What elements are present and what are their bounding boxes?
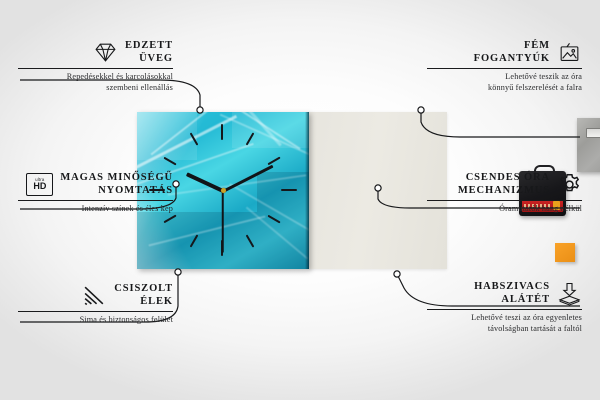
feature-title-line1: EDZETT [125,40,173,53]
feature-desc-line1: Intenzív színek és éles kép [18,204,173,215]
picture-hanger-icon [557,40,582,65]
feature-divider [427,200,582,201]
hour-marker [221,124,223,140]
feature-desc-line1: Sima és biztonságos felület [18,315,173,326]
glass-edge [305,112,309,269]
feature-title-line2: ÉLEK [114,296,173,309]
feature-foam-pad: HABSZIVACS ALÁTÉT Lehetővé teszi az óra … [427,281,582,334]
clock-hands-hub [221,188,226,193]
connector-dot-foam-pad [394,271,400,277]
feature-divider [427,309,582,310]
feature-silent-mechanism: CSENDES ÓRA MECHANIZMUS Óramutatók hang … [427,172,582,215]
diamond-icon [93,40,118,65]
feature-title-line1: HABSZIVACS [474,281,550,294]
feature-title-line2: NYOMTATÁS [60,185,173,198]
feature-desc-line2: távolságban tartását a faltól [427,324,582,335]
feature-metal-hangers: FÉM FOGANTYÚK Lehetővé teszik az óra kön… [427,40,582,93]
feature-title-line2: FOGANTYÚK [474,53,550,66]
feature-desc-line2: szembeni ellenállás [18,83,173,94]
feature-desc-line1: Lehetővé teszi az óra egyenletes [427,313,582,324]
hour-marker [267,157,280,166]
second-hand [222,191,224,253]
feature-desc-line1: Lehetővé teszik az óra [427,72,582,83]
feature-title-line2: ALÁTÉT [474,294,550,307]
feature-desc-line1: Repedésekkel és karcolásokkal [18,72,173,83]
connector-dot-polished-edges [175,269,181,275]
feature-polished-edges: CSISZOLT ÉLEK Sima és biztonságos felüle… [18,283,173,326]
ultra-hd-badge-icon: ultraHD [26,173,53,196]
feature-title-line2: MECHANIZMUS [458,185,550,198]
feature-title-line1: CSENDES ÓRA [458,172,550,185]
foam-pad-arrow-icon [557,281,582,306]
feature-title-line1: FÉM [474,40,550,53]
feature-title-line2: ÜVEG [125,53,173,66]
feature-print-quality: ultraHD MAGAS MINŐSÉGŰ NYOMTATÁS Intenzí… [18,172,173,215]
feature-divider [427,68,582,69]
feature-title-line1: MAGAS MINŐSÉGŰ [60,172,173,185]
feature-divider [18,200,173,201]
feature-divider [18,68,173,69]
product-photo [137,112,447,269]
infographic-canvas: EDZETT ÜVEG Repedésekkel és karcolásokka… [0,0,600,400]
hanger-slot [586,128,600,138]
polished-edges-icon [82,283,107,308]
foam-spacer-pad [555,243,575,262]
metal-hanger-plate [577,118,600,172]
feature-desc-line2: könnyű felszerelését a falra [427,83,582,94]
feature-divider [18,311,173,312]
feature-tempered-glass: EDZETT ÜVEG Repedésekkel és karcolásokka… [18,40,173,93]
feature-title-line1: CSISZOLT [114,283,173,296]
gear-icon [557,172,582,197]
feature-desc-line1: Óramutatók hang nélkül [427,204,582,215]
